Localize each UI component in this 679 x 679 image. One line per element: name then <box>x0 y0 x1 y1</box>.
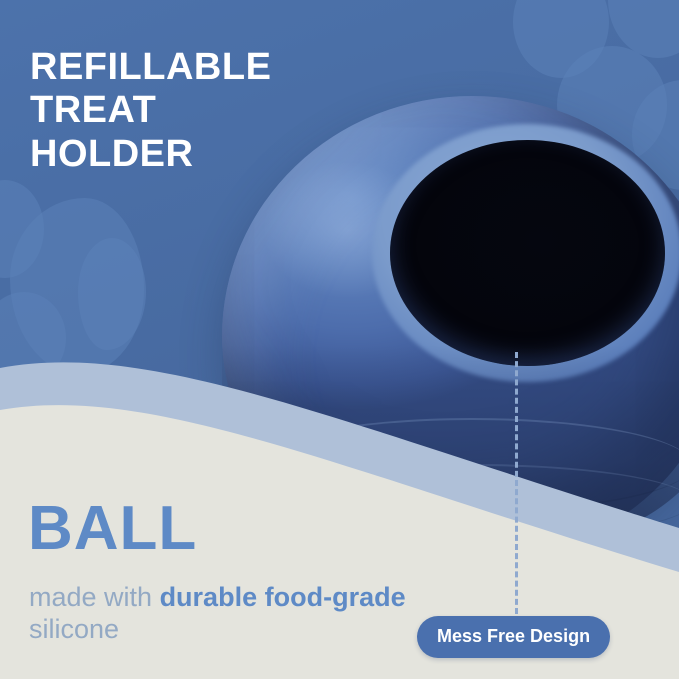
page-title: REFILLABLE TREAT HOLDER <box>30 46 271 176</box>
subtitle-tail: silicone <box>29 614 119 644</box>
mess-free-callout-line <box>515 352 518 614</box>
subtitle-emphasis-food-grade: food-grade <box>265 582 406 612</box>
product-feature-poster: REFILLABLE TREAT HOLDER BALL made with d… <box>0 0 679 679</box>
product-subtitle: made with durable food-grade silicone <box>29 582 429 645</box>
subtitle-emphasis-durable: durable <box>160 582 258 612</box>
product-title: BALL <box>28 498 197 560</box>
status-badge: Mess Free Design <box>417 616 610 658</box>
subtitle-mid <box>257 582 265 612</box>
subtitle-lead: made with <box>29 582 160 612</box>
